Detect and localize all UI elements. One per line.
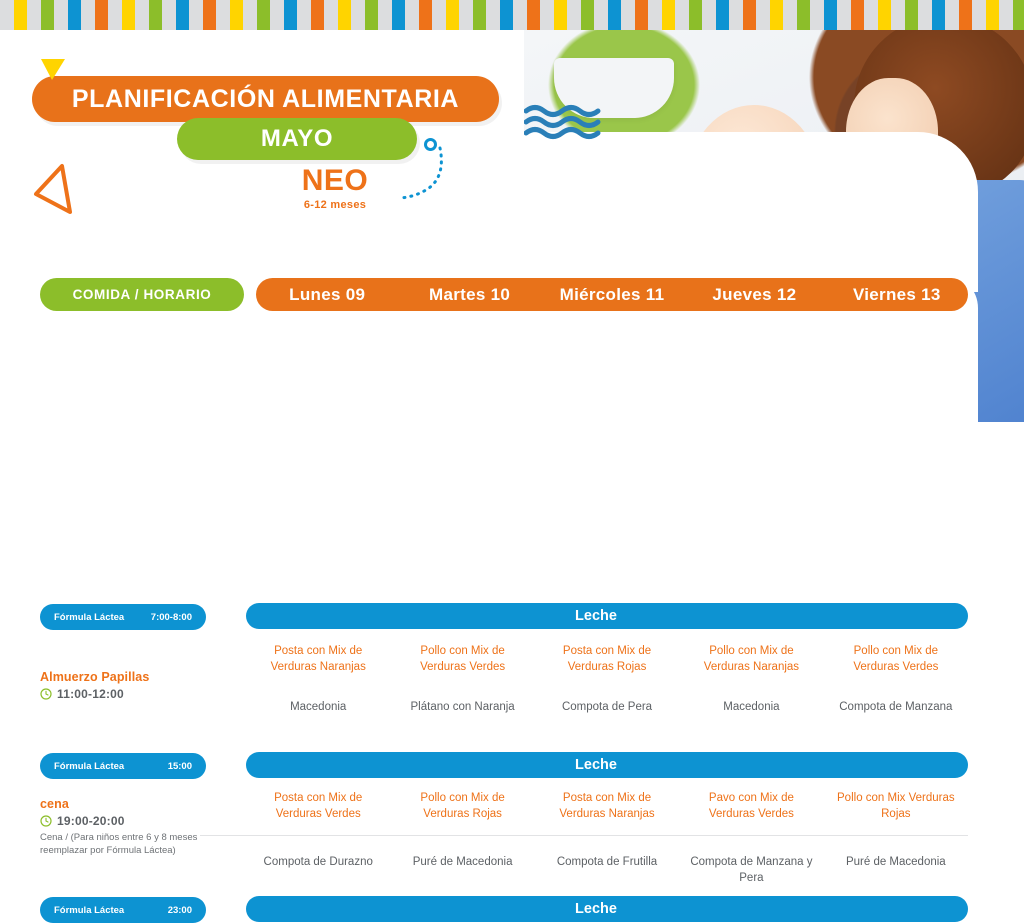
table-header-days: Lunes 09Martes 10Miércoles 11Jueves 12Vi…: [256, 278, 968, 311]
brand-block: NEO 6-12 meses: [250, 166, 420, 211]
meal-time: 11:00-12:00: [57, 687, 124, 701]
food-cell-main-day-2: Pollo con Mix de Verduras Rojas: [390, 791, 534, 823]
clock-icon: [40, 688, 52, 700]
chip-time: 7:00-8:00: [151, 612, 192, 623]
chip-label: Fórmula Láctea: [54, 761, 124, 772]
food-cell-main-day-1: Posta con Mix de Verduras Naranjas: [246, 644, 390, 676]
stripe-segment: [459, 0, 473, 30]
stripe-segment: [135, 0, 149, 30]
stripe-segment: [297, 0, 311, 30]
stripe-segment: [149, 0, 162, 30]
food-dessert-text: Compota de Manzana: [830, 700, 962, 716]
stripe-segment: [95, 0, 108, 30]
meal-time-row: 19:00-20:00: [40, 814, 240, 828]
stripe-segment: [972, 0, 986, 30]
food-cell-dessert-day-1: Compota de Durazno: [246, 855, 390, 887]
stripe-segment: [918, 0, 932, 30]
brand-age-range: 6-12 meses: [250, 199, 420, 211]
stripe-segment: [486, 0, 500, 30]
stripe-segment: [797, 0, 810, 30]
chip-time: 15:00: [168, 761, 192, 772]
meal-note: Cena / (Para niños entre 6 y 8 meses ree…: [40, 832, 215, 857]
meal-info-block: Almuerzo Papillas11:00-12:00: [40, 670, 240, 701]
stripe-segment: [540, 0, 554, 30]
stripe-segment: [999, 0, 1013, 30]
stripe-segment: [878, 0, 891, 30]
stripe-segment: [122, 0, 135, 30]
yellow-pennant-icon: [40, 58, 66, 84]
stripe-segment: [378, 0, 392, 30]
table-header-day-1: Lunes 09: [256, 285, 398, 305]
food-main-text: Posta con Mix de Verduras Verdes: [252, 791, 384, 823]
formula-lactea-chip: Fórmula Láctea15:00: [40, 753, 206, 779]
stripe-segment: [0, 0, 14, 30]
brand-name: NEO: [250, 166, 420, 196]
food-main-text: Pavo con Mix de Verduras Verdes: [685, 791, 817, 823]
stripe-segment: [284, 0, 297, 30]
leche-bar-label: Leche: [246, 603, 946, 629]
table-header-day-5: Viernes 13: [826, 285, 968, 305]
page-title-pill: PLANIFICACIÓN ALIMENTARIA: [32, 76, 499, 122]
stripe-segment: [702, 0, 716, 30]
meal-time: 19:00-20:00: [57, 814, 125, 828]
food-main-text: Posta con Mix de Verduras Rojas: [541, 644, 673, 676]
stripe-segment: [581, 0, 594, 30]
food-dessert-text: Plátano con Naranja: [396, 700, 528, 716]
stripe-segment: [594, 0, 608, 30]
food-row-dessert: MacedoniaPlátano con NaranjaCompota de P…: [246, 700, 968, 716]
stripe-segment: [648, 0, 662, 30]
stripe-segment: [932, 0, 945, 30]
stripe-segment: [716, 0, 729, 30]
chip-time: 23:00: [168, 905, 192, 916]
stripe-segment: [351, 0, 365, 30]
food-cell-main-day-2: Pollo con Mix de Verduras Verdes: [390, 644, 534, 676]
food-main-text: Pollo con Mix de Verduras Rojas: [396, 791, 528, 823]
stripe-segment: [405, 0, 419, 30]
stripe-segment: [270, 0, 284, 30]
blue-circle-icon: [424, 138, 437, 151]
food-dessert-text: Compota de Manzana y Pera: [685, 855, 817, 887]
food-cell-dessert-day-3: Compota de Pera: [535, 700, 679, 716]
page-title: PLANIFICACIÓN ALIMENTARIA: [72, 85, 459, 114]
stripe-segment: [54, 0, 68, 30]
stripe-segment: [203, 0, 216, 30]
food-main-text: Posta con Mix de Verduras Naranjas: [252, 644, 384, 676]
food-cell-main-day-3: Posta con Mix de Verduras Naranjas: [535, 791, 679, 823]
stripe-segment: [108, 0, 122, 30]
food-cell-dessert-day-5: Compota de Manzana: [824, 700, 968, 716]
meal-info-block: cena19:00-20:00Cena / (Para niños entre …: [40, 797, 240, 857]
food-cell-dessert-day-5: Puré de Macedonia: [824, 855, 968, 887]
stripe-segment: [675, 0, 689, 30]
table-header-meal-column: COMIDA / HORARIO: [40, 278, 244, 311]
stripe-segment: [473, 0, 486, 30]
stripe-segment: [756, 0, 770, 30]
month-label: MAYO: [261, 125, 333, 153]
stripe-segment: [41, 0, 54, 30]
stripe-segment: [432, 0, 446, 30]
stripe-segment: [743, 0, 756, 30]
stripe-segment: [311, 0, 324, 30]
stripe-segment: [837, 0, 851, 30]
stripe-segment: [662, 0, 675, 30]
stripe-segment: [851, 0, 864, 30]
month-pill: MAYO: [177, 118, 417, 160]
white-cross-icon: [935, 150, 971, 186]
table-header-day-3: Miércoles 11: [541, 285, 683, 305]
formula-lactea-chip: Fórmula Láctea7:00-8:00: [40, 604, 206, 630]
stripe-segment: [216, 0, 230, 30]
stripe-segment: [338, 0, 351, 30]
food-cell-dessert-day-2: Puré de Macedonia: [390, 855, 534, 887]
stripe-segment: [770, 0, 783, 30]
table-header-day-2: Martes 10: [398, 285, 540, 305]
stripe-segment: [945, 0, 959, 30]
stripe-segment: [824, 0, 837, 30]
food-row-main: Posta con Mix de Verduras VerdesPollo co…: [246, 791, 968, 823]
stripe-segment: [176, 0, 189, 30]
stripe-segment: [891, 0, 905, 30]
food-main-text: Posta con Mix de Verduras Naranjas: [541, 791, 673, 823]
leche-bar: Leche: [246, 896, 968, 922]
stripe-segment: [689, 0, 702, 30]
stripe-segment: [513, 0, 527, 30]
stripe-segment: [729, 0, 743, 30]
food-cell-main-day-5: Pollo con Mix de Verduras Verdes: [824, 644, 968, 676]
food-main-text: Pollo con Mix de Verduras Verdes: [830, 644, 962, 676]
stripe-segment: [392, 0, 405, 30]
stripe-segment: [162, 0, 176, 30]
food-dessert-text: Puré de Macedonia: [396, 855, 528, 871]
food-row-dessert: Compota de DuraznoPuré de MacedoniaCompo…: [246, 855, 968, 887]
food-row-main: Posta con Mix de Verduras NaranjasPollo …: [246, 644, 968, 676]
clock-icon: [40, 815, 52, 827]
stripe-segment: [621, 0, 635, 30]
leche-bar: Leche: [246, 603, 968, 629]
stripe-segment: [257, 0, 270, 30]
meal-time-row: 11:00-12:00: [40, 687, 240, 701]
stripe-segment: [68, 0, 81, 30]
food-cell-dessert-day-4: Compota de Manzana y Pera: [679, 855, 823, 887]
formula-lactea-chip: Fórmula Láctea23:00: [40, 897, 206, 923]
stripe-segment: [446, 0, 459, 30]
stripe-segment: [500, 0, 513, 30]
stripe-segment: [527, 0, 540, 30]
stripe-segment: [1013, 0, 1024, 30]
meal-title: cena: [40, 797, 240, 811]
table-header-meal-label: COMIDA / HORARIO: [73, 287, 212, 302]
food-dessert-text: Compota de Durazno: [252, 855, 384, 871]
orange-triangle-icon: [32, 162, 88, 218]
chip-label: Fórmula Láctea: [54, 905, 124, 916]
food-dessert-text: Compota de Pera: [541, 700, 673, 716]
food-dessert-text: Macedonia: [685, 700, 817, 716]
food-dessert-text: Compota de Frutilla: [541, 855, 673, 871]
top-stripe-band: [0, 0, 1024, 30]
chip-label: Fórmula Láctea: [54, 612, 124, 623]
food-cell-main-day-5: Pollo con Mix Verduras Rojas: [824, 791, 968, 823]
food-main-text: Pollo con Mix de Verduras Verdes: [396, 644, 528, 676]
stripe-segment: [14, 0, 27, 30]
food-dessert-text: Macedonia: [252, 700, 384, 716]
stripe-segment: [324, 0, 338, 30]
stripe-segment: [783, 0, 797, 30]
leche-bar-label: Leche: [246, 752, 946, 778]
leche-bar: Leche: [246, 752, 968, 778]
stripe-segment: [554, 0, 567, 30]
stripe-segment: [608, 0, 621, 30]
stripe-segment: [230, 0, 243, 30]
stripe-segment: [810, 0, 824, 30]
stripe-segment: [81, 0, 95, 30]
food-cell-main-day-3: Posta con Mix de Verduras Rojas: [535, 644, 679, 676]
row-divider: [200, 835, 968, 836]
food-cell-main-day-4: Pollo con Mix de Verduras Naranjas: [679, 644, 823, 676]
leche-bar-label: Leche: [246, 896, 946, 922]
food-cell-main-day-1: Posta con Mix de Verduras Verdes: [246, 791, 390, 823]
blue-waves-icon: [524, 103, 602, 141]
food-dessert-text: Puré de Macedonia: [830, 855, 962, 871]
stripe-segment: [986, 0, 999, 30]
stripe-segment: [365, 0, 378, 30]
stripe-segment: [635, 0, 648, 30]
food-cell-dessert-day-2: Plátano con Naranja: [390, 700, 534, 716]
food-cell-dessert-day-4: Macedonia: [679, 700, 823, 716]
stripe-segment: [27, 0, 41, 30]
stripe-segment: [905, 0, 918, 30]
stripe-segment: [959, 0, 972, 30]
meal-title: Almuerzo Papillas: [40, 670, 240, 684]
stripe-segment: [189, 0, 203, 30]
food-cell-dessert-day-3: Compota de Frutilla: [535, 855, 679, 887]
food-cell-main-day-4: Pavo con Mix de Verduras Verdes: [679, 791, 823, 823]
food-main-text: Pollo con Mix de Verduras Naranjas: [685, 644, 817, 676]
stripe-segment: [419, 0, 432, 30]
stripe-segment: [243, 0, 257, 30]
stripe-segment: [567, 0, 581, 30]
food-main-text: Pollo con Mix Verduras Rojas: [830, 791, 962, 823]
food-cell-dessert-day-1: Macedonia: [246, 700, 390, 716]
stripe-segment: [864, 0, 878, 30]
white-overlay-panel-top: [0, 132, 978, 292]
table-header-day-4: Jueves 12: [683, 285, 825, 305]
